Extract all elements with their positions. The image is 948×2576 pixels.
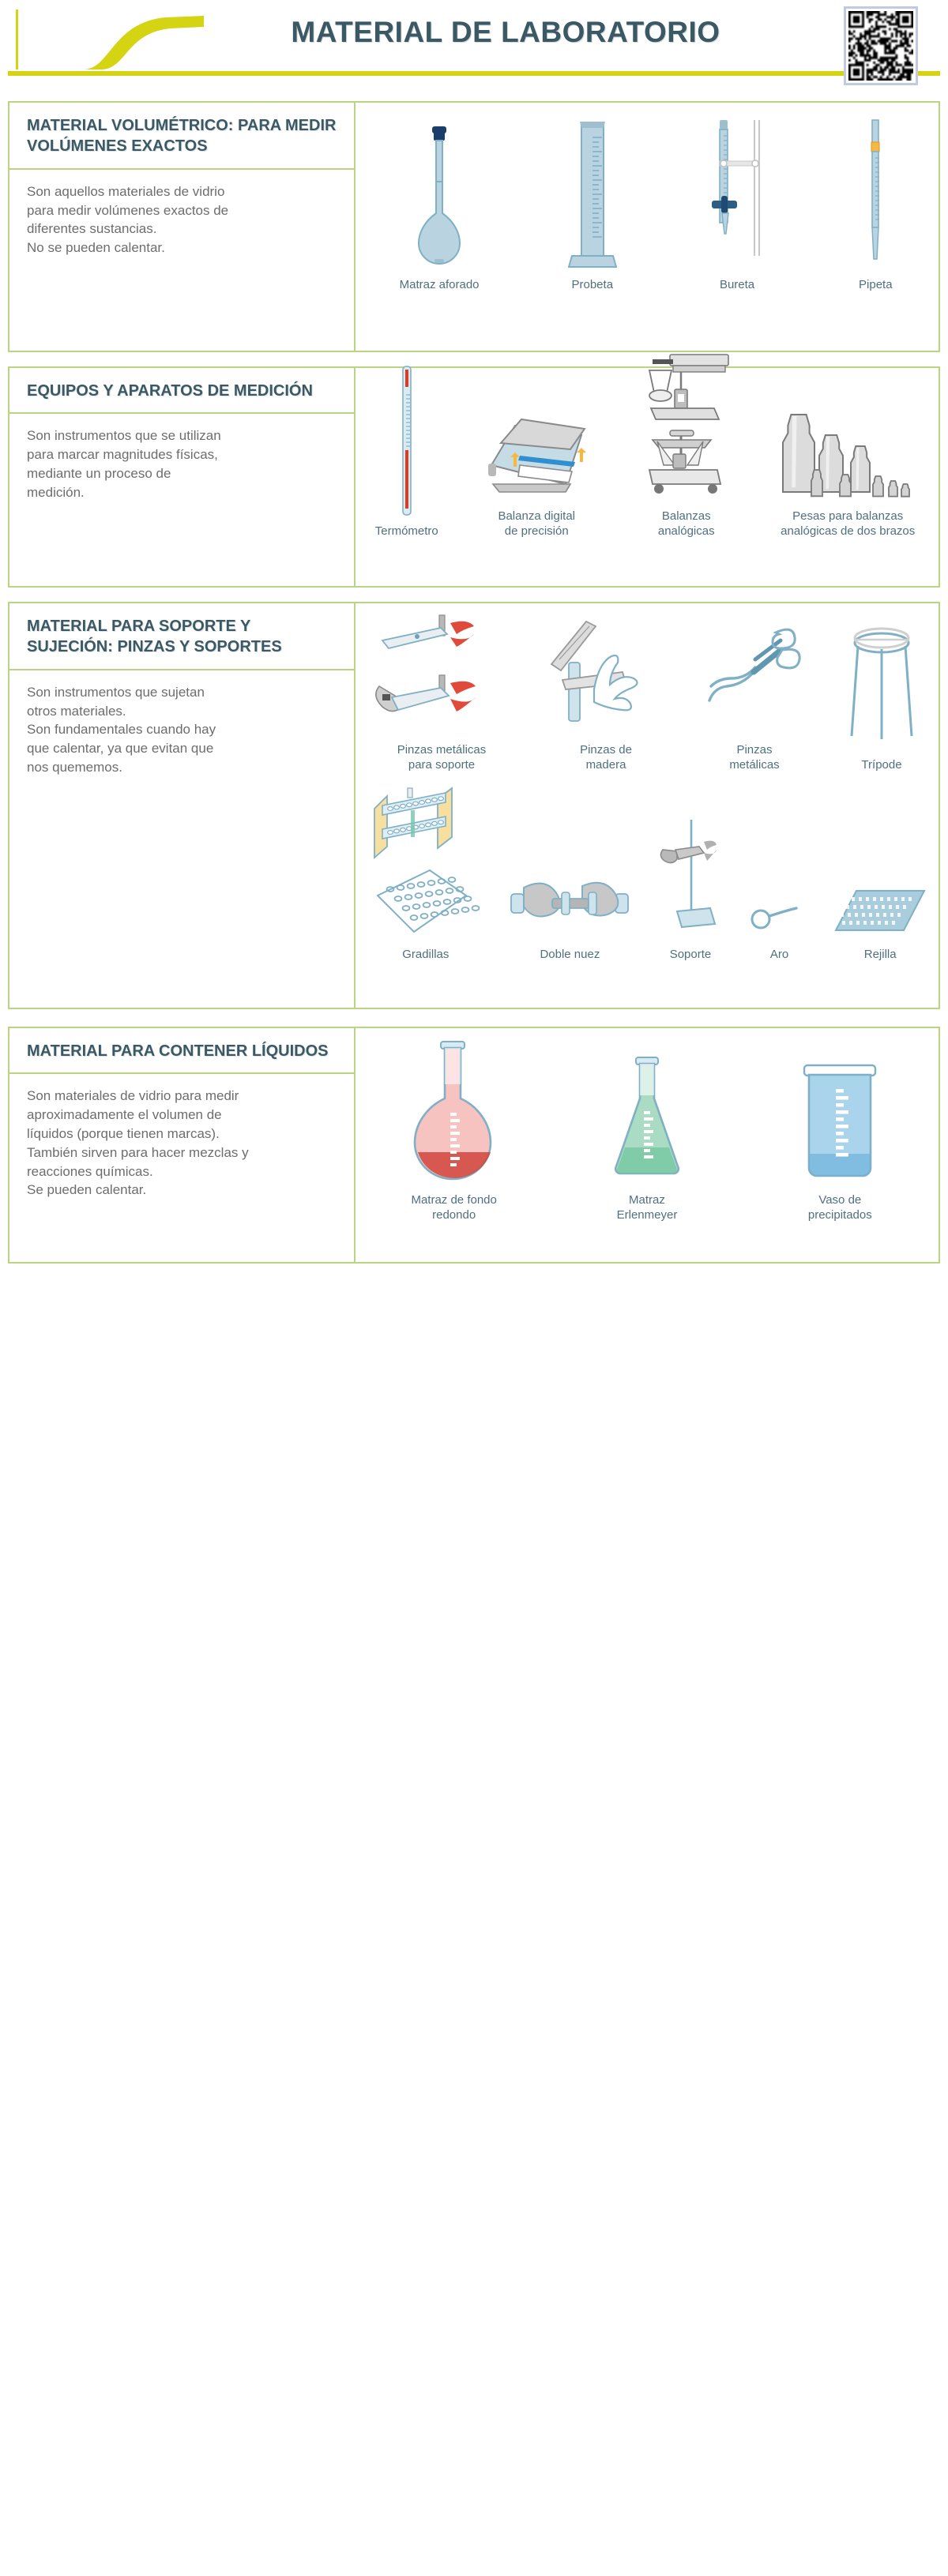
page-header: MATERIAL DE LABORATORIO [0, 0, 948, 93]
equipment-item[interactable]: Aro [748, 894, 811, 962]
equipment-label: Matraz de fondo redondo [411, 1193, 496, 1222]
equipment-label: Probeta [572, 278, 614, 292]
equipment-label: Soporte [670, 948, 712, 962]
section-header-medicion: EQUIPOS Y APARATOS DE MEDICIÓN [9, 368, 354, 414]
section-contener: MATERIAL PARA CONTENER LÍQUIDOSSon mater… [8, 1027, 940, 1264]
section-body-soporte: Son instrumentos que sujetan otros mater… [9, 670, 354, 1008]
thermometer-icon [397, 363, 417, 518]
section-title-soporte: MATERIAL PARA SOPORTE Y SUJECIÓN: PINZAS… [27, 616, 340, 658]
equipment-label: Trípode [861, 758, 901, 772]
yellow-swoosh-logo-icon [8, 6, 245, 77]
equipment-item[interactable]: Pesas para balanzas analógicas de dos br… [777, 408, 919, 539]
support-ring-icon [748, 894, 811, 941]
page-title: MATERIAL DE LABORATORIO [229, 16, 782, 49]
equipment-label: Pesas para balanzas analógicas de dos br… [781, 509, 915, 539]
gallery-row: Gradillas Doble nuez Soporte Aro Rejilla [355, 772, 939, 962]
equipment-label: Pinzas metálicas [729, 743, 779, 772]
section-header-soporte: MATERIAL PARA SOPORTE Y SUJECIÓN: PINZAS… [9, 603, 354, 670]
equipment-item[interactable]: Probeta [567, 114, 618, 292]
erlenmeyer-flask-icon [608, 1053, 687, 1187]
section-text-panel-volumetrico: MATERIAL VOLUMÉTRICO: PARA MEDIR VOLÚMEN… [8, 101, 355, 352]
equipment-item[interactable]: Matraz aforado [400, 114, 480, 292]
section-title-contener: MATERIAL PARA CONTENER LÍQUIDOS [27, 1041, 340, 1061]
equipment-label: Pinzas de madera [580, 743, 632, 772]
equipment-item[interactable]: Rejilla [833, 886, 927, 962]
equipment-label: Pipeta [859, 278, 893, 292]
qr-code-canvas [848, 11, 913, 81]
graduated-cylinder-icon [567, 114, 618, 272]
gallery-row: Pinzas metálicas para soporte Pinzas de … [355, 603, 939, 772]
retort-stand-icon [655, 815, 726, 941]
section-text-panel-contener: MATERIAL PARA CONTENER LÍQUIDOSSon mater… [8, 1027, 355, 1264]
equipment-label: Gradillas [402, 948, 449, 962]
wooden-tongs-icon [547, 610, 665, 737]
section-title-volumetrico: MATERIAL VOLUMÉTRICO: PARA MEDIR VOLÚMEN… [27, 115, 340, 157]
section-body-medicion: Son instrumentos que se utilizan para ma… [9, 414, 354, 586]
analog-balance-icon [635, 348, 738, 503]
section-text-panel-medicion: EQUIPOS Y APARATOS DE MEDICIÓNSon instru… [8, 366, 355, 588]
equipment-item[interactable]: Matraz Erlenmeyer [608, 1053, 687, 1222]
section-description-volumetrico: Son aquellos materiales de vidrio para m… [27, 182, 340, 257]
equipment-label: Rejilla [864, 948, 897, 962]
section-title-medicion: EQUIPOS Y APARATOS DE MEDICIÓN [27, 381, 340, 401]
round-bottom-flask-icon [411, 1037, 498, 1187]
section-volumetrico: MATERIAL VOLUMÉTRICO: PARA MEDIR VOLÚMEN… [8, 101, 940, 352]
equipment-label: Matraz Erlenmeyer [617, 1193, 678, 1222]
section-body-volumetrico: Son aquellos materiales de vidrio para m… [9, 170, 354, 351]
tripod-icon [844, 625, 920, 752]
section-description-soporte: Son instrumentos que sujetan otros mater… [27, 683, 340, 777]
section-gallery-soporte: Pinzas metálicas para soporte Pinzas de … [355, 602, 940, 1009]
equipment-label: Doble nuez [540, 948, 600, 962]
section-header-volumetrico: MATERIAL VOLUMÉTRICO: PARA MEDIR VOLÚMEN… [9, 103, 354, 170]
gallery-row: Matraz aforado Probeta Bureta Pipeta [355, 103, 939, 292]
equipment-label: Termómetro [375, 524, 438, 539]
equipment-item[interactable]: Pipeta [856, 114, 894, 292]
beaker-icon [796, 1061, 883, 1187]
equipment-item[interactable]: Pinzas de madera [547, 610, 665, 772]
qr-code-icon[interactable] [844, 6, 918, 85]
equipment-label: Pinzas metálicas para soporte [397, 743, 487, 772]
equipment-item[interactable]: Balanzas analógicas [635, 348, 738, 539]
equipment-label: Vaso de precipitados [808, 1193, 872, 1222]
gallery-row: Termómetro Balanza digital de precisión … [355, 368, 939, 539]
section-body-contener: Son materiales de vidrio para medir apro… [9, 1074, 354, 1262]
equipment-label: Balanza digital de precisión [498, 509, 575, 539]
section-soporte: MATERIAL PARA SOPORTE Y SUJECIÓN: PINZAS… [8, 602, 940, 1009]
test-tube-rack-icon [367, 783, 485, 941]
section-description-contener: Son materiales de vidrio para medir apro… [27, 1087, 340, 1200]
section-gallery-volumetrico: Matraz aforado Probeta Bureta Pipeta [355, 101, 940, 352]
equipment-item[interactable]: Gradillas [367, 783, 485, 962]
volumetric-flask-icon [412, 114, 467, 272]
metal-support-clamp-icon [374, 610, 509, 737]
equipment-item[interactable]: Termómetro [375, 363, 438, 539]
equipment-label: Aro [770, 948, 788, 962]
burette-icon [705, 114, 769, 272]
section-text-panel-soporte: MATERIAL PARA SOPORTE Y SUJECIÓN: PINZAS… [8, 602, 355, 1009]
section-description-medicion: Son instrumentos que se utilizan para ma… [27, 426, 340, 501]
section-gallery-contener: Matraz de fondo redondo Matraz Erlenmeye… [355, 1027, 940, 1264]
wire-gauze-icon [833, 886, 927, 941]
equipment-item[interactable]: Pinzas metálicas [703, 618, 806, 772]
equipment-item[interactable]: Matraz de fondo redondo [411, 1037, 498, 1222]
section-header-contener: MATERIAL PARA CONTENER LÍQUIDOS [9, 1028, 354, 1074]
equipment-item[interactable]: Bureta [705, 114, 769, 292]
equipment-label: Bureta [720, 278, 754, 292]
metal-tongs-icon [703, 618, 806, 737]
double-clamp-icon [506, 870, 633, 941]
gallery-row: Matraz de fondo redondo Matraz Erlenmeye… [355, 1028, 939, 1222]
pipette-icon [856, 114, 894, 272]
equipment-label: Balanzas analógicas [658, 509, 715, 539]
equipment-label: Matraz aforado [400, 278, 480, 292]
equipment-item[interactable]: Doble nuez [506, 870, 633, 962]
header-divider-rule [8, 71, 940, 76]
equipment-item[interactable]: Trípode [844, 625, 920, 772]
equipment-item[interactable]: Vaso de precipitados [796, 1061, 883, 1222]
equipment-item[interactable]: Pinzas metálicas para soporte [374, 610, 509, 772]
section-gallery-medicion: Termómetro Balanza digital de precisión … [355, 366, 940, 588]
calibration-weights-icon [777, 408, 919, 503]
equipment-item[interactable]: Balanza digital de precisión [477, 408, 596, 539]
section-medicion: EQUIPOS Y APARATOS DE MEDICIÓNSon instru… [8, 366, 940, 588]
digital-balance-icon [477, 408, 596, 503]
equipment-item[interactable]: Soporte [655, 815, 726, 962]
